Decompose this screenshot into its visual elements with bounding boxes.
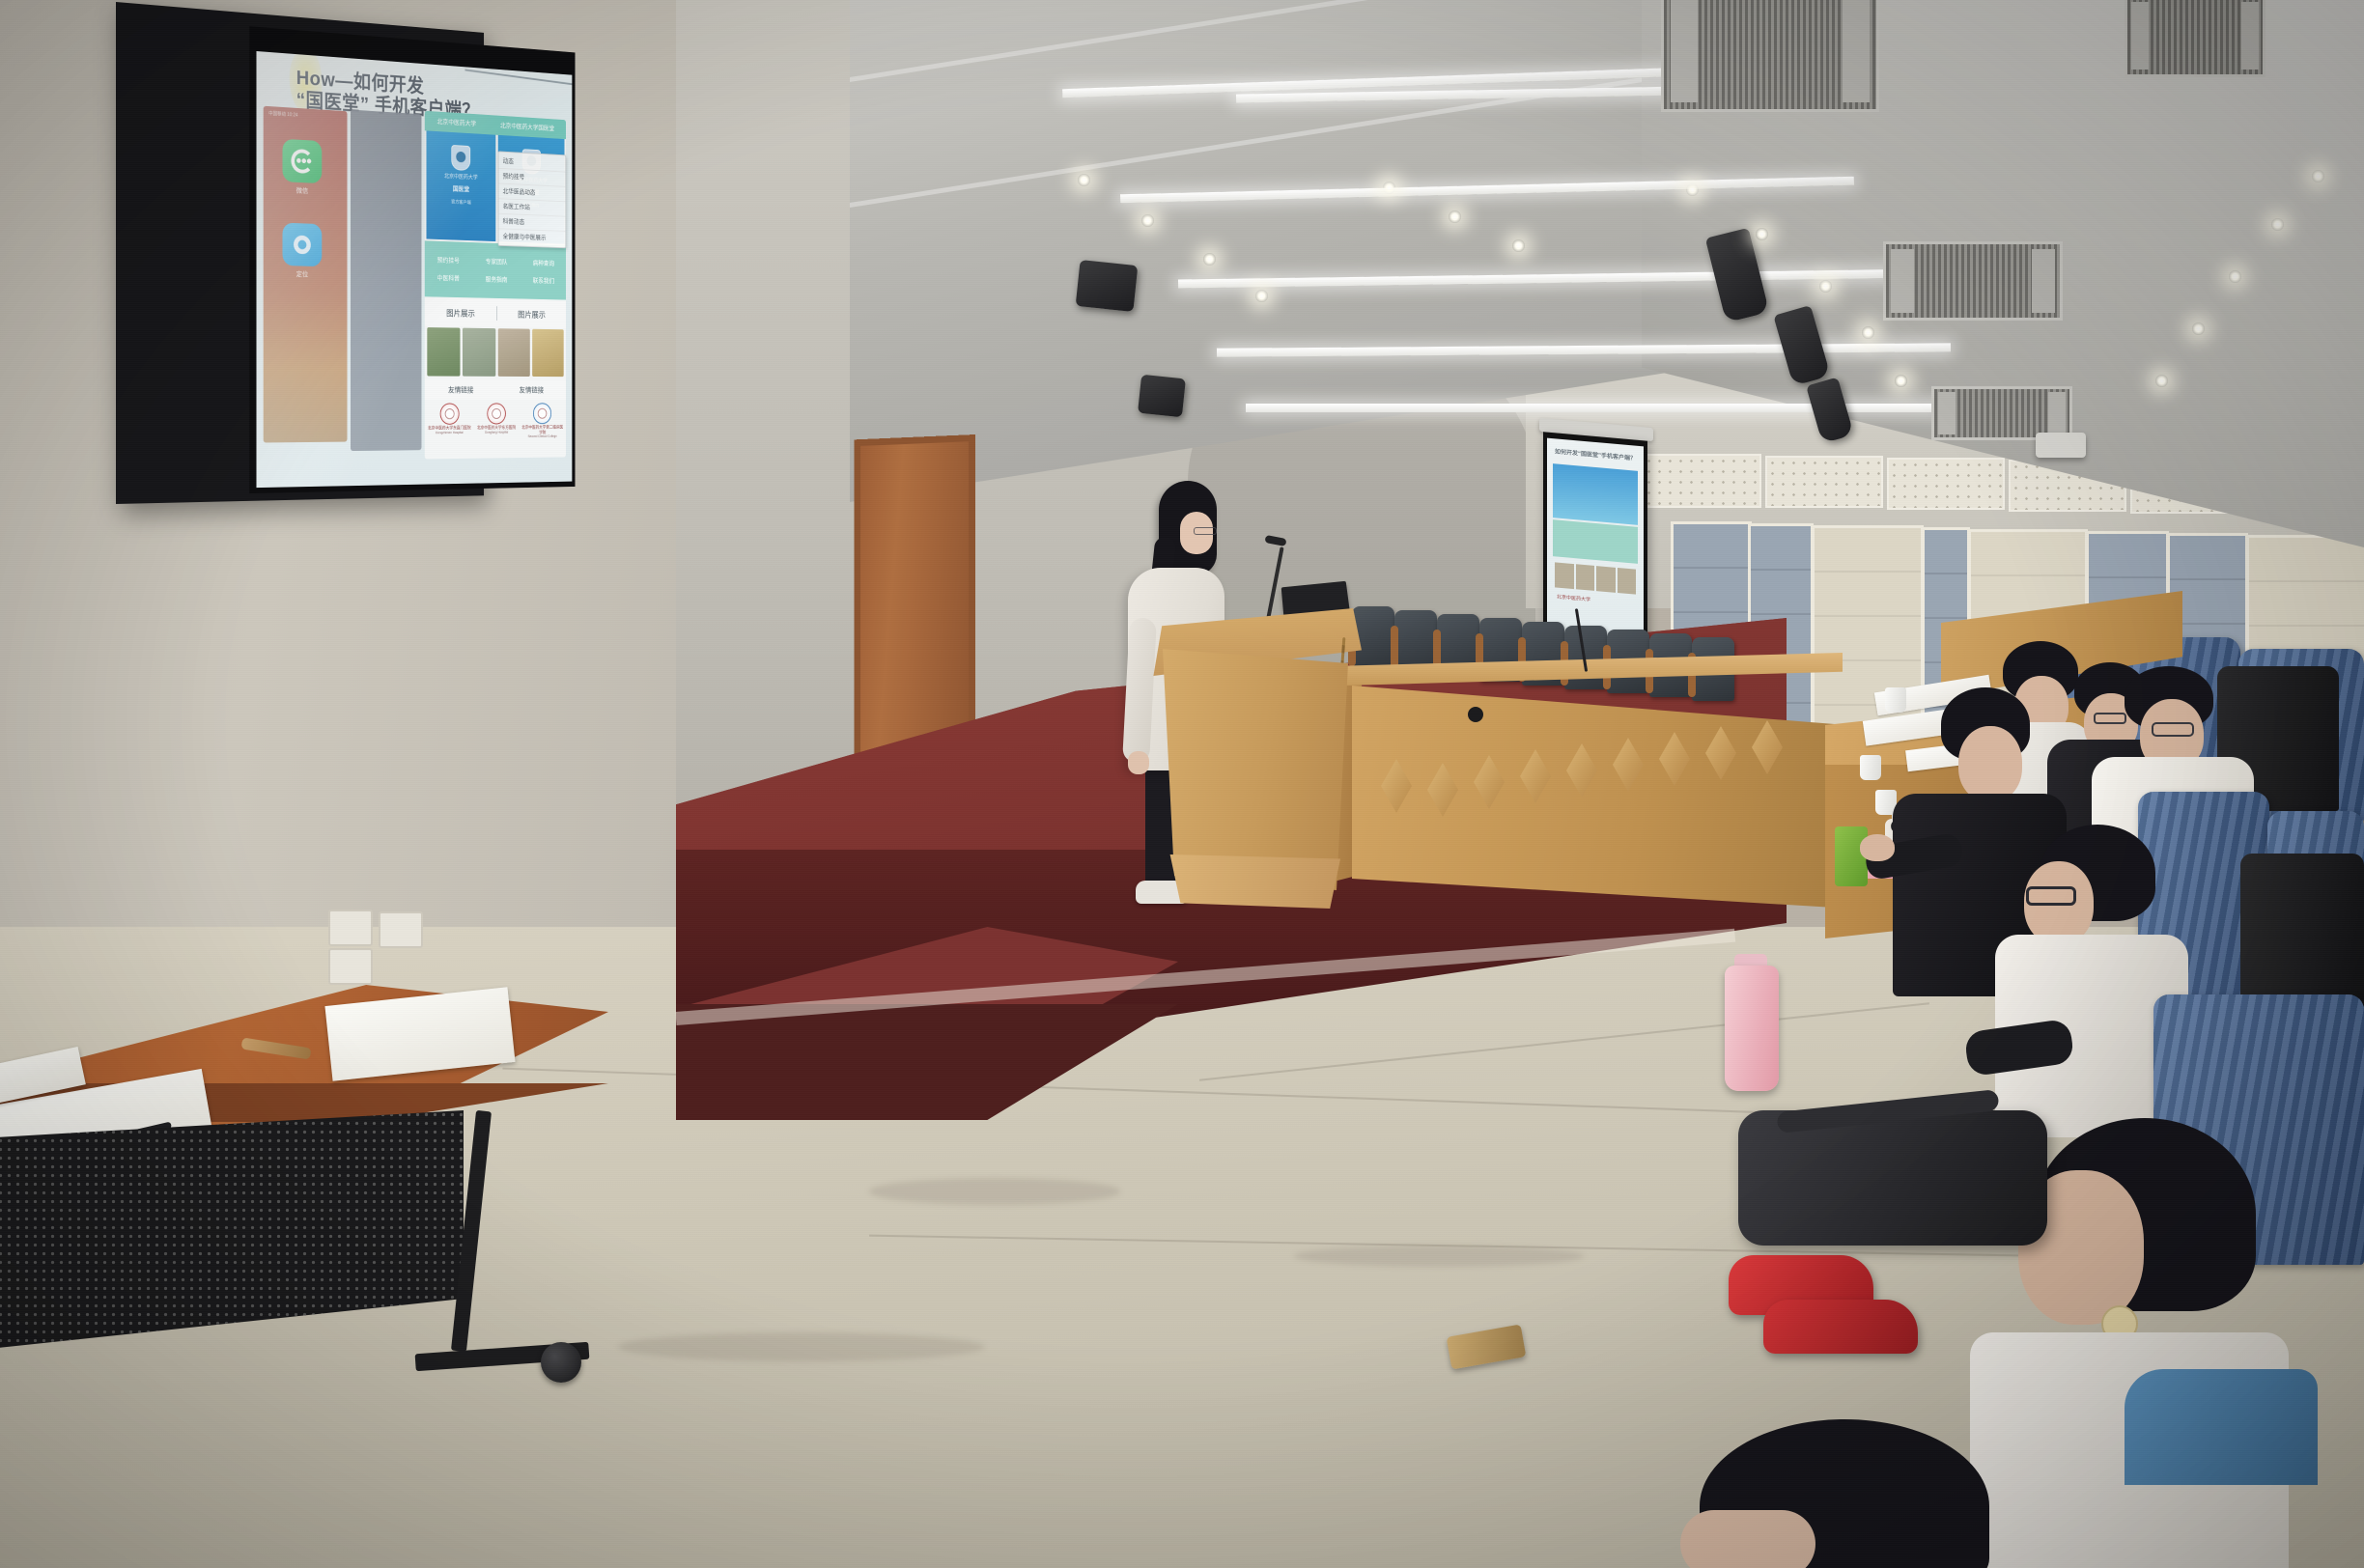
hospital-seal-icon bbox=[487, 403, 505, 424]
hospital-seal-icon bbox=[533, 403, 551, 424]
menu-item: 全健康与中医展示 bbox=[499, 229, 566, 245]
partner-name-en: Dongzhimen Hospital bbox=[426, 431, 472, 435]
phone-mockup-home: 中国移动 10:24 微信 定位 bbox=[264, 106, 348, 443]
secondary-banner bbox=[1553, 463, 1638, 525]
secondary-photo-row bbox=[1555, 562, 1636, 594]
podium-body bbox=[1155, 649, 1348, 890]
chat-bubble-icon bbox=[282, 139, 322, 183]
wall-socket-icon[interactable] bbox=[328, 948, 373, 985]
photo-thumb bbox=[463, 328, 495, 377]
app-label: 微信 bbox=[280, 185, 324, 197]
projection-screen-inner: How—如何开发 “国医堂” 手机客户端？ 中国移动 10:24 微信 定位 bbox=[249, 26, 575, 493]
wall-socket-icon[interactable] bbox=[328, 910, 373, 946]
partner-name-en: Dongfang Hospital bbox=[474, 430, 520, 434]
red-sneaker-icon bbox=[1763, 1300, 1918, 1354]
app-header-left: 北京中医药大学 bbox=[437, 117, 477, 128]
glasses-icon bbox=[2026, 886, 2076, 906]
ac-vent-icon bbox=[1661, 0, 1879, 112]
downlight-icon bbox=[2271, 218, 2284, 231]
paper-cup bbox=[1885, 687, 1906, 713]
section-label: 友情链接 bbox=[496, 385, 566, 395]
panel-knob-icon bbox=[1468, 707, 1483, 722]
phone-statusbar: 中国移动 10:24 bbox=[268, 110, 297, 119]
panel-relief bbox=[1474, 755, 1505, 809]
panel-relief bbox=[1566, 743, 1597, 798]
glasses-icon bbox=[1194, 527, 1217, 535]
lecture-hall-photo: How—如何开发 “国医堂” 手机客户端？ 中国移动 10:24 微信 定位 bbox=[0, 0, 2364, 1568]
presenter-hand bbox=[1128, 751, 1149, 774]
ceiling-light-group bbox=[1004, 6, 2260, 450]
university-crest-icon bbox=[452, 145, 471, 171]
circle-icon bbox=[282, 223, 322, 267]
partner-name-en: Second Clinical College bbox=[521, 434, 565, 439]
downlight-icon bbox=[2229, 270, 2241, 283]
secondary-nav bbox=[1553, 519, 1638, 564]
podium-base bbox=[1167, 854, 1340, 909]
projection-screen-frame: How—如何开发 “国医堂” 手机客户端？ 中国移动 10:24 微信 定位 bbox=[116, 2, 484, 504]
panel-relief bbox=[1427, 763, 1458, 817]
downlight-icon bbox=[2155, 375, 2168, 387]
panel-relief bbox=[1520, 749, 1551, 803]
app-nav-item: 病种查询 bbox=[521, 258, 566, 268]
audience-garment bbox=[2125, 1369, 2318, 1485]
audience-hand bbox=[1860, 834, 1895, 861]
app-photo-row bbox=[427, 327, 563, 377]
perforated-panel bbox=[1642, 454, 1761, 508]
app-banner: 北京中医药大学 国医堂 官方客户端 bbox=[426, 130, 494, 241]
banner-line2: 国医堂 bbox=[426, 183, 494, 196]
panel-relief bbox=[1659, 732, 1690, 786]
secondary-slide-title: 如何开发“国医堂”手机客户端？ bbox=[1555, 446, 1636, 462]
app-label: 定位 bbox=[280, 269, 324, 280]
app-nav-item: 联系我们 bbox=[521, 276, 566, 286]
ceiling-speaker-icon bbox=[1076, 260, 1139, 312]
section-label: 友情链接 bbox=[425, 384, 496, 394]
secondary-logo-text: 北京中医药大学 bbox=[1557, 594, 1590, 603]
panel-relief bbox=[1752, 720, 1783, 774]
app-nav-item: 中医科普 bbox=[425, 273, 472, 284]
glasses-icon bbox=[2152, 722, 2194, 737]
downlight-icon bbox=[1686, 183, 1699, 196]
glasses-icon bbox=[2094, 713, 2126, 724]
downlight-icon bbox=[1862, 326, 1874, 339]
panel-relief bbox=[1381, 759, 1412, 813]
downlight-icon bbox=[2192, 322, 2205, 335]
photo-thumb bbox=[497, 328, 529, 377]
panel-relief bbox=[1613, 738, 1644, 792]
app-nav-item: 专家团队 bbox=[473, 257, 520, 267]
downlight-icon bbox=[1449, 210, 1461, 223]
banner-line3: 官方客户端 bbox=[426, 198, 494, 208]
downlight-icon bbox=[1895, 375, 1907, 387]
downlight-icon bbox=[2312, 170, 2324, 182]
phone-mockup-photo bbox=[351, 110, 421, 451]
perforated-panel bbox=[1887, 458, 2005, 510]
photo-thumb bbox=[427, 327, 460, 377]
downlight-icon bbox=[1819, 280, 1832, 293]
light-strip bbox=[1217, 343, 1951, 356]
secondary-slide-content: 如何开发“国医堂”手机客户端？ 北京中医药大学 bbox=[1547, 438, 1644, 652]
app-header-right: 北京中医药大学国医堂 bbox=[500, 121, 554, 133]
app-nav-grid: 预约挂号 专家团队 病种查询 中医科普 服务指南 联系我们 bbox=[425, 240, 566, 299]
downlight-icon bbox=[1255, 290, 1268, 302]
app-nav-item: 预约挂号 bbox=[425, 255, 472, 266]
banner-line1: 北京中医药大学 bbox=[426, 171, 494, 182]
app-section-header-photos: 图片展示 图片展示 bbox=[425, 298, 566, 327]
paper-cup bbox=[1860, 755, 1881, 780]
water-bottle-icon bbox=[1725, 966, 1779, 1091]
downlight-icon bbox=[1756, 228, 1768, 240]
partner-logo: 北京中医药大学东直门医院 Dongzhimen Hospital bbox=[426, 402, 472, 458]
app-partner-logos: 北京中医药大学东直门医院 Dongzhimen Hospital 北京中医药大学… bbox=[426, 401, 564, 457]
audience-head bbox=[1958, 726, 2022, 801]
light-strip bbox=[1120, 177, 1854, 204]
partner-name-cn: 北京中医药大学第二临床医学院 bbox=[521, 425, 565, 435]
downlight-icon bbox=[1141, 214, 1154, 227]
table-caster-wheel bbox=[541, 1342, 581, 1383]
downlight-icon bbox=[1383, 182, 1395, 194]
ac-vent-icon bbox=[2125, 0, 2265, 77]
section-label: 图片展示 bbox=[497, 308, 567, 321]
partner-logo: 北京中医药大学第二临床医学院 Second Clinical College bbox=[521, 401, 565, 456]
downlight-icon bbox=[1078, 174, 1090, 186]
wall-socket-icon[interactable] bbox=[379, 911, 423, 948]
partner-logo: 北京中医药大学东方医院 Dongfang Hospital bbox=[474, 402, 520, 457]
downlight-icon bbox=[1512, 239, 1525, 252]
ceiling-speaker-icon bbox=[1138, 375, 1186, 418]
app-section-header-links: 友情链接 友情链接 bbox=[425, 379, 566, 400]
ac-vent-icon bbox=[1883, 241, 2063, 321]
panel-relief bbox=[1705, 726, 1736, 780]
slide-dropdown-menu: 动态 预约挂号 北华医品动态 名医工作站 科普动态 全健康与中医展示 bbox=[498, 151, 566, 248]
slide-content: How—如何开发 “国医堂” 手机客户端？ 中国移动 10:24 微信 定位 bbox=[256, 51, 572, 488]
section-label: 图片展示 bbox=[425, 306, 496, 319]
photo-thumb bbox=[532, 329, 564, 377]
projector-icon bbox=[2036, 433, 2086, 458]
audience-hand bbox=[1680, 1510, 1815, 1568]
app-nav-item: 服务指南 bbox=[473, 274, 520, 284]
theater-seat-dark[interactable] bbox=[2240, 854, 2364, 1008]
downlight-icon bbox=[1203, 253, 1216, 266]
hospital-seal-icon bbox=[439, 403, 459, 424]
perforated-panel bbox=[1765, 456, 1883, 508]
